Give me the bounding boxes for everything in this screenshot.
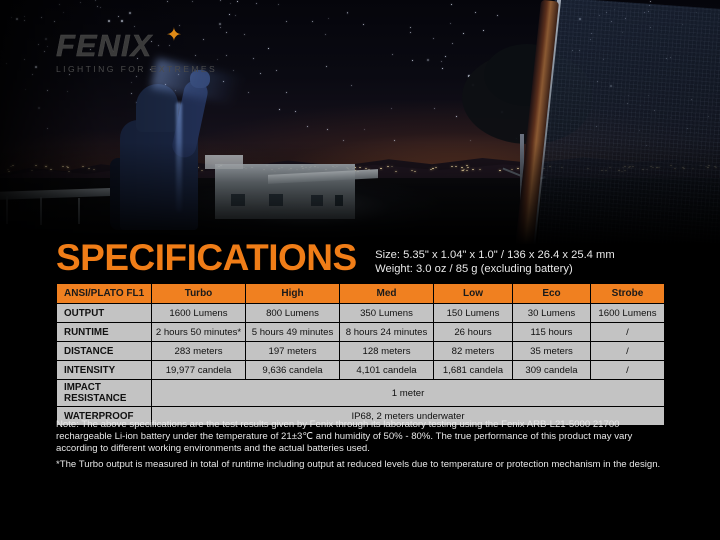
cell-runtime-strobe: / xyxy=(591,323,665,342)
cell-intensity-high: 9,636 candela xyxy=(246,361,340,380)
column-header-strobe: Strobe xyxy=(591,284,665,304)
table-row: INTENSITY 19,977 candela 9,636 candela 4… xyxy=(57,361,665,380)
row-label-impact-resistance: IMPACT RESISTANCE xyxy=(57,380,152,407)
cell-distance-turbo: 283 meters xyxy=(152,342,246,361)
table-row: DISTANCE 283 meters 197 meters 128 meter… xyxy=(57,342,665,361)
cell-runtime-high: 5 hours 49 minutes xyxy=(246,323,340,342)
table-header-row: ANSI/PLATO FL1 Turbo High Med Low Eco St… xyxy=(57,284,665,304)
cell-intensity-eco: 309 candela xyxy=(513,361,591,380)
cell-output-high: 800 Lumens xyxy=(246,304,340,323)
note-text: Note: The above specifications are the t… xyxy=(56,419,668,454)
cell-distance-eco: 35 meters xyxy=(513,342,591,361)
cell-impact-resistance-value: 1 meter xyxy=(152,380,665,407)
row-label-intensity: INTENSITY xyxy=(57,361,152,380)
cell-distance-high: 197 meters xyxy=(246,342,340,361)
cell-runtime-low: 26 hours xyxy=(434,323,513,342)
table-row: OUTPUT 1600 Lumens 800 Lumens 350 Lumens… xyxy=(57,304,665,323)
footnote-text: *The Turbo output is measured in total o… xyxy=(56,459,668,471)
logo-wordmark: FENIX xyxy=(56,30,236,61)
row-label-distance: DISTANCE xyxy=(57,342,152,361)
column-header-turbo: Turbo xyxy=(152,284,246,304)
cell-runtime-eco: 115 hours xyxy=(513,323,591,342)
footnotes: Note: The above specifications are the t… xyxy=(56,419,668,471)
logo-tagline: LIGHTING FOR EXTREMES xyxy=(56,64,236,74)
star-icon: ✦ xyxy=(165,27,183,45)
size-line: Size: 5.35" x 1.04" x 1.0" / 136 x 26.4 … xyxy=(375,249,615,261)
column-header-eco: Eco xyxy=(513,284,591,304)
table-row: IMPACT RESISTANCE 1 meter xyxy=(57,380,665,407)
cell-output-turbo: 1600 Lumens xyxy=(152,304,246,323)
cell-distance-low: 82 meters xyxy=(434,342,513,361)
cell-output-med: 350 Lumens xyxy=(340,304,434,323)
column-header-low: Low xyxy=(434,284,513,304)
cell-intensity-low: 1,681 candela xyxy=(434,361,513,380)
cell-runtime-med: 8 hours 24 minutes xyxy=(340,323,434,342)
row-label-line1: IMPACT xyxy=(64,382,151,393)
weight-line: Weight: 3.0 oz / 85 g (excluding battery… xyxy=(375,263,573,275)
cell-intensity-med: 4,101 candela xyxy=(340,361,434,380)
column-header-high: High xyxy=(246,284,340,304)
cell-intensity-turbo: 19,977 candela xyxy=(152,361,246,380)
row-label-line2: RESISTANCE xyxy=(64,393,151,404)
spec-sheet-page: ✦ FENIX LIGHTING FOR EXTREMES SPECIFICAT… xyxy=(0,0,720,540)
specifications-header: SPECIFICATIONS Size: 5.35" x 1.04" x 1.0… xyxy=(56,238,676,278)
cell-output-low: 150 Lumens xyxy=(434,304,513,323)
row-label-output: OUTPUT xyxy=(57,304,152,323)
cell-output-strobe: 1600 Lumens xyxy=(591,304,665,323)
page-title: SPECIFICATIONS xyxy=(56,238,357,278)
column-header-med: Med xyxy=(340,284,434,304)
row-label-runtime: RUNTIME xyxy=(57,323,152,342)
column-header-ansi: ANSI/PLATO FL1 xyxy=(57,284,152,304)
cell-runtime-turbo: 2 hours 50 minutes* xyxy=(152,323,246,342)
fenix-logo: ✦ FENIX LIGHTING FOR EXTREMES xyxy=(56,30,236,72)
table-row: RUNTIME 2 hours 50 minutes* 5 hours 49 m… xyxy=(57,323,665,342)
cell-output-eco: 30 Lumens xyxy=(513,304,591,323)
cell-distance-med: 128 meters xyxy=(340,342,434,361)
cell-intensity-strobe: / xyxy=(591,361,665,380)
specifications-table: ANSI/PLATO FL1 Turbo High Med Low Eco St… xyxy=(56,283,665,426)
product-dimensions: Size: 5.35" x 1.04" x 1.0" / 136 x 26.4 … xyxy=(375,248,615,278)
cell-distance-strobe: / xyxy=(591,342,665,361)
